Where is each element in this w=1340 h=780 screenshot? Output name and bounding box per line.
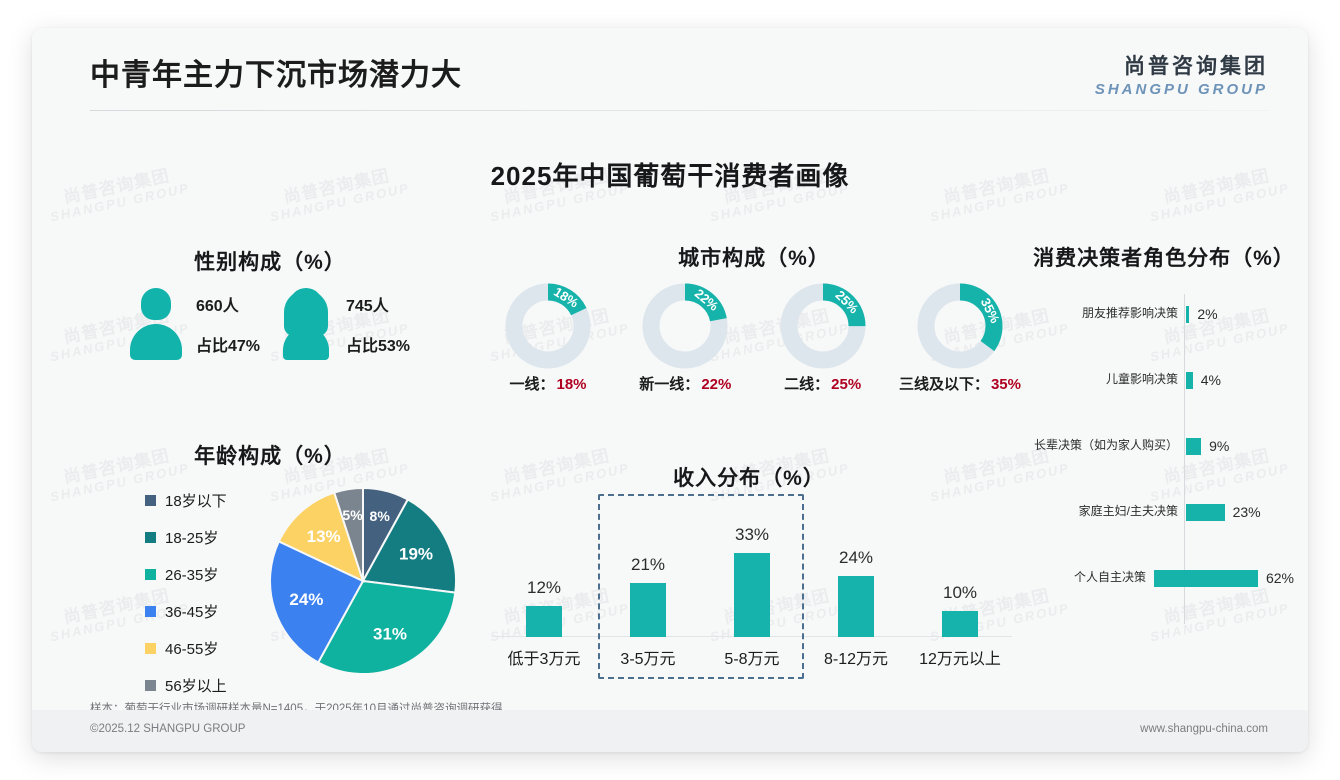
male-person-icon	[128, 288, 184, 360]
legend-label: 56岁以上	[165, 675, 227, 696]
decision-bar-row: 长辈决策（如为家人购买）9%	[1032, 426, 1294, 466]
donut-caption: 二线：25%	[759, 373, 887, 394]
city-donut-item: 25%二线：25%	[759, 280, 887, 394]
income-bar-value: 24%	[804, 548, 908, 568]
income-bar	[526, 606, 562, 637]
income-bar-group: 10%12万元以上	[908, 506, 1012, 681]
income-panel-title: 收入分布（%）	[484, 462, 1014, 492]
decision-bar	[1186, 438, 1201, 455]
donut-svg: 22%	[639, 280, 731, 372]
decision-bar-label: 长辈决策（如为家人购买）	[1032, 438, 1186, 454]
city-donut-item: 35%三线及以下：35%	[896, 280, 1024, 394]
age-pie-chart: 8%19%31%24%13%5%	[268, 486, 458, 676]
legend-label: 26-35岁	[165, 564, 218, 585]
legend-label: 18岁以下	[165, 490, 227, 511]
female-count: 745人	[346, 292, 410, 316]
city-donut-item: 22%新一线：22%	[621, 280, 749, 394]
income-bar-value: 12%	[492, 578, 596, 598]
legend-item: 46-55岁	[145, 638, 227, 659]
income-bar-label: 低于3万元	[492, 645, 596, 669]
company-logo: 尚普咨询集团 SHANGPU GROUP	[1095, 50, 1268, 98]
age-legend: 18岁以下18-25岁26-35岁36-45岁46-55岁56岁以上	[145, 490, 227, 712]
income-bar	[838, 576, 874, 637]
decision-bar-label: 朋友推荐影响决策	[1032, 306, 1186, 322]
donut-svg: 35%	[914, 280, 1006, 372]
logo-text-en: SHANGPU GROUP	[1095, 81, 1268, 98]
decision-bar-value: 62%	[1266, 570, 1294, 586]
logo-text-cn: 尚普咨询集团	[1095, 50, 1268, 80]
donut-caption: 新一线：22%	[621, 373, 749, 394]
pie-slice-label: 19%	[399, 544, 433, 563]
legend-swatch-icon	[145, 569, 156, 580]
income-bar-value: 10%	[908, 583, 1012, 603]
legend-item: 56岁以上	[145, 675, 227, 696]
legend-item: 36-45岁	[145, 601, 227, 622]
decision-panel-title: 消费决策者角色分布（%）	[1014, 242, 1308, 272]
legend-label: 18-25岁	[165, 527, 218, 548]
female-share: 占比53%	[346, 332, 410, 356]
pie-slice-label: 31%	[373, 625, 407, 644]
legend-item: 18岁以下	[145, 490, 227, 511]
gender-panel-title: 性别构成（%）	[90, 246, 450, 276]
decision-bar	[1186, 504, 1225, 521]
age-panel: 年龄构成（%） 18岁以下18-25岁26-35岁36-45岁46-55岁56岁…	[90, 428, 470, 688]
city-donut-row: 18%一线：18%22%新一线：22%25%二线：25%35%三线及以下：35%	[484, 280, 1024, 394]
decision-bar-chart: 朋友推荐影响决策2%儿童影响决策4%长辈决策（如为家人购买）9%家庭主妇/主夫决…	[1032, 294, 1294, 624]
legend-swatch-icon	[145, 495, 156, 506]
legend-label: 46-55岁	[165, 638, 218, 659]
decision-bar-label: 个人自主决策	[1032, 570, 1154, 586]
slide-header: 中青年主力下沉市场潜力大 尚普咨询集团 SHANGPU GROUP	[32, 28, 1308, 112]
decision-bar	[1154, 570, 1258, 587]
income-bar-label: 8-12万元	[804, 645, 908, 669]
legend-swatch-icon	[145, 606, 156, 617]
male-share: 占比47%	[196, 332, 260, 356]
legend-label: 36-45岁	[165, 601, 218, 622]
decision-bar-row: 家庭主妇/主夫决策23%	[1032, 492, 1294, 532]
copyright-text: ©2025.12 SHANGPU GROUP	[90, 723, 245, 735]
pie-slice-label: 24%	[289, 590, 323, 609]
income-bar-group: 24%8-12万元	[804, 506, 908, 681]
pie-slice-label: 5%	[342, 507, 363, 523]
donut-svg: 25%	[777, 280, 869, 372]
pie-slice-label: 13%	[307, 527, 341, 546]
city-donut-item: 18%一线：18%	[484, 280, 612, 394]
legend-swatch-icon	[145, 643, 156, 654]
gender-item-male: 660人 占比47%	[128, 288, 260, 360]
decision-bar-row: 朋友推荐影响决策2%	[1032, 294, 1294, 334]
donut-svg: 18%	[502, 280, 594, 372]
pie-slice-label: 8%	[370, 508, 391, 524]
gender-item-female: 745人 占比53%	[278, 288, 410, 360]
legend-swatch-icon	[145, 680, 156, 691]
income-bar-chart: 12%低于3万元21%3-5万元33%5-8万元24%8-12万元10%12万元…	[492, 506, 1012, 681]
income-bar-label: 12万元以上	[908, 645, 1012, 669]
decision-bar-row: 儿童影响决策4%	[1032, 360, 1294, 400]
slide-card: 尚普咨询集团SHANGPU GROUP尚普咨询集团SHANGPU GROUP尚普…	[32, 28, 1308, 752]
decision-bar-value: 9%	[1209, 438, 1229, 454]
decision-bar	[1186, 306, 1189, 323]
income-bar	[942, 611, 978, 637]
decision-bar-row: 个人自主决策62%	[1032, 558, 1294, 598]
decision-panel: 消费决策者角色分布（%） 朋友推荐影响决策2%儿童影响决策4%长辈决策（如为家人…	[1032, 240, 1294, 640]
decision-bar	[1186, 372, 1193, 389]
income-highlight-box	[598, 494, 804, 679]
legend-swatch-icon	[145, 532, 156, 543]
donut-caption: 一线：18%	[484, 373, 612, 394]
legend-item: 18-25岁	[145, 527, 227, 548]
male-count: 660人	[196, 292, 260, 316]
city-panel: 城市构成（%） 18%一线：18%22%新一线：22%25%二线：25%35%三…	[484, 240, 1024, 410]
decision-bar-value: 2%	[1197, 306, 1217, 322]
donut-caption: 三线及以下：35%	[896, 373, 1024, 394]
female-person-icon	[278, 288, 334, 360]
page-title: 中青年主力下沉市场潜力大	[90, 50, 462, 94]
income-panel: 收入分布（%） 12%低于3万元21%3-5万元33%5-8万元24%8-12万…	[484, 458, 1014, 688]
age-panel-title: 年龄构成（%）	[90, 440, 450, 470]
legend-item: 26-35岁	[145, 564, 227, 585]
decision-bar-label: 家庭主妇/主夫决策	[1032, 504, 1186, 520]
slide-footer: ©2025.12 SHANGPU GROUP www.shangpu-china…	[32, 710, 1308, 752]
city-panel-title: 城市构成（%）	[484, 242, 1024, 272]
website-link[interactable]: www.shangpu-china.com	[1140, 723, 1268, 735]
chart-subtitle: 2025年中国葡萄干消费者画像	[32, 156, 1308, 193]
header-divider	[90, 110, 1268, 111]
decision-bar-value: 23%	[1233, 504, 1261, 520]
decision-bar-label: 儿童影响决策	[1032, 372, 1186, 388]
pie-svg: 8%19%31%24%13%5%	[268, 486, 458, 676]
decision-bar-value: 4%	[1201, 372, 1221, 388]
gender-panel: 性别构成（%） 660人 占比47% 745人 占比53%	[90, 240, 450, 400]
income-bar-group: 12%低于3万元	[492, 506, 596, 681]
